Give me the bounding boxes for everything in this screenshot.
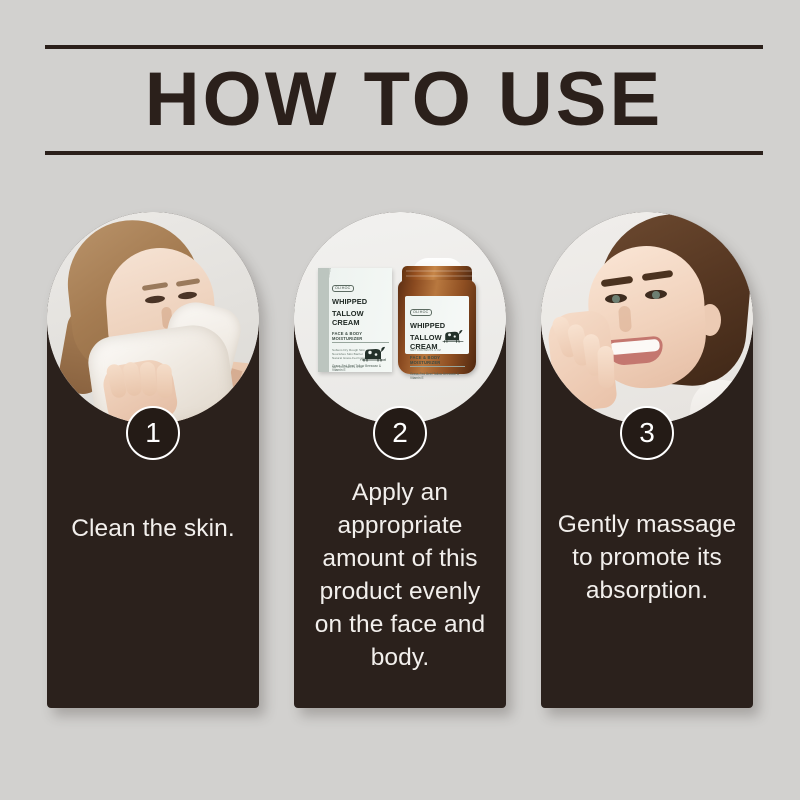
carton-net-weight: NET CONTENTS 4 OZ (332, 365, 363, 369)
step-number-badge-2: 2 (373, 406, 427, 460)
title-rule-bottom (45, 151, 763, 155)
jar-subtitle: FACE & BODY MOISTURIZER (410, 355, 465, 367)
cow-illustration-icon (359, 340, 389, 362)
step-caption-1: Clean the skin. (59, 512, 247, 545)
step-1-photo (47, 212, 259, 424)
page-header: HOW TO USE (45, 45, 763, 155)
step-card-1: 1 Clean the skin. (47, 212, 259, 708)
page-title: HOW TO USE (45, 62, 763, 138)
woman-massaging-face-icon (541, 212, 753, 424)
woman-cleansing-face-with-towel-icon (47, 212, 259, 424)
carton-brand: OLIHOC (332, 285, 354, 292)
step-card-3: 3 Gently massage to promote its absorpti… (541, 212, 753, 708)
product-jar: OLIHOC WHIPPED TALLOW CREAM FACE & BODY … (398, 258, 476, 374)
jar-net-weight: NET CONTENTS 4 OZ (410, 348, 441, 352)
steps-container: 1 Clean the skin. OLIHOC WHIPPED TALLOW … (0, 212, 800, 712)
step-number-badge-3: 3 (620, 406, 674, 460)
step-card-2: OLIHOC WHIPPED TALLOW CREAM FACE & BODY … (294, 212, 506, 708)
jar-brand: OLIHOC (410, 309, 432, 316)
product-carton: OLIHOC WHIPPED TALLOW CREAM FACE & BODY … (318, 268, 392, 372)
title-rule-top (45, 45, 763, 49)
step-number-badge-1: 1 (126, 406, 180, 460)
step-3-photo (541, 212, 753, 424)
whipped-tallow-cream-product-icon: OLIHOC WHIPPED TALLOW CREAM FACE & BODY … (294, 212, 506, 424)
step-2-photo: OLIHOC WHIPPED TALLOW CREAM FACE & BODY … (294, 212, 506, 424)
carton-name-line-2: TALLOW CREAM (332, 309, 389, 327)
jar-label: OLIHOC WHIPPED TALLOW CREAM FACE & BODY … (405, 296, 469, 354)
step-caption-2: Apply an appropriate amount of this prod… (306, 476, 494, 674)
jar-footer: Grass-Fed Beef Tallow Beeswax & Vitamin … (410, 372, 465, 380)
carton-name-line-1: WHIPPED (332, 297, 389, 306)
jar-cow-illustration-icon (440, 324, 466, 343)
step-caption-3: Gently massage to promote its absorption… (553, 508, 741, 607)
